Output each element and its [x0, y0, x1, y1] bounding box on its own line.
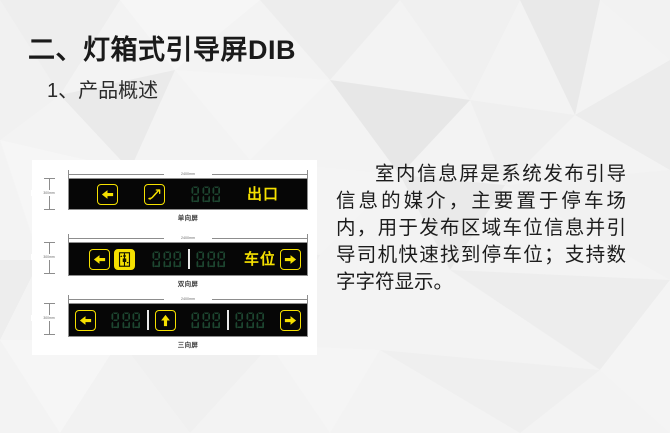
width-dimension-label: 2400mm: [164, 295, 212, 303]
seven-segment-digit: [212, 186, 221, 203]
segment-divider: [188, 249, 190, 269]
width-dimension-marker: 2400mm: [68, 170, 308, 178]
seven-segment-digit: [152, 251, 161, 268]
seven-segment-digit: [163, 251, 172, 268]
product-figure: 300mm 2400mm: [32, 160, 317, 355]
width-dimension-label: 2400mm: [164, 170, 212, 178]
product-description: 室内信息屏是系统发布引导信息的媒介，主要置于停车场内，用于发布区域车位信息并引导…: [336, 160, 626, 295]
escalator-icon: [144, 184, 165, 205]
height-dimension-label: 300mm: [31, 254, 67, 260]
width-dimension-marker: 2400mm: [68, 295, 308, 303]
right-arrow-icon: [280, 310, 301, 331]
seven-segment-digit: [246, 312, 255, 329]
height-dimension-label: 300mm: [31, 315, 67, 321]
digit-group: [111, 312, 141, 329]
panel-caption: 双向屏: [68, 278, 308, 288]
height-dimension-marker: 300mm: [38, 303, 62, 335]
left-arrow-icon: [97, 184, 118, 205]
segment-divider: [227, 310, 229, 330]
seven-segment-digit: [202, 186, 211, 203]
seven-segment-digit: [191, 186, 200, 203]
height-dimension-marker: 300mm: [38, 242, 62, 274]
seven-segment-digit: [196, 251, 205, 268]
seven-segment-digit: [202, 312, 211, 329]
width-dimension-label: 2400mm: [164, 234, 212, 242]
up-arrow-icon: [155, 310, 176, 331]
seven-segment-digit: [256, 312, 265, 329]
seven-segment-digit: [111, 312, 120, 329]
led-board-dual: 车位: [68, 242, 308, 276]
board-text-parking-space: 车位: [244, 252, 276, 267]
seven-segment-digit: [217, 251, 226, 268]
left-arrow-icon: [75, 310, 96, 331]
seven-segment-digit: [191, 312, 200, 329]
elevator-icon: [114, 249, 135, 270]
seven-segment-digit: [235, 312, 244, 329]
height-dimension-label: 300mm: [31, 190, 67, 196]
left-arrow-icon: [89, 249, 110, 270]
panel-caption: 三向屏: [68, 339, 308, 349]
segment-divider: [147, 310, 149, 330]
led-board-single: 出口: [68, 178, 308, 210]
height-dimension-marker: 300mm: [38, 178, 62, 210]
page-title: 二、灯箱式引导屏DIB: [28, 28, 296, 67]
digit-group: [235, 312, 265, 329]
seven-segment-digit: [212, 312, 221, 329]
seven-segment-digit: [173, 251, 182, 268]
digit-group: [196, 251, 226, 268]
digit-group: [191, 312, 221, 329]
right-arrow-icon: [280, 249, 301, 270]
digit-group: [191, 186, 221, 203]
seven-segment-digit: [132, 312, 141, 329]
panel-caption: 单向屏: [68, 212, 308, 222]
board-text-exit: 出口: [247, 187, 279, 202]
seven-segment-digit: [207, 251, 216, 268]
seven-segment-digit: [122, 312, 131, 329]
digit-group: [152, 251, 182, 268]
page-subtitle: 1、产品概述: [47, 74, 158, 103]
width-dimension-marker: 2400mm: [68, 234, 308, 242]
led-board-triple: [68, 303, 308, 337]
